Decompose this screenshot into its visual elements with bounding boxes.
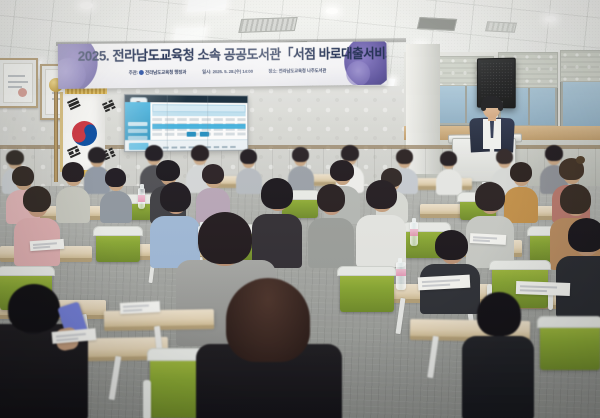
water-bottle[interactable]	[396, 262, 406, 290]
ceiling-light-panel	[187, 0, 227, 12]
handout[interactable]	[418, 275, 471, 291]
window-blind[interactable]	[560, 50, 600, 82]
screen-content-area	[150, 102, 247, 141]
chair[interactable]	[96, 228, 140, 262]
banner-datetime-value: 2025. 5. 28.(수) 14:00	[212, 69, 253, 74]
projection-screen	[124, 94, 248, 152]
ceiling-downlight	[80, 2, 93, 9]
audience-person	[436, 152, 462, 192]
water-bottle[interactable]	[138, 188, 145, 209]
audience-person	[356, 180, 406, 264]
audience-person-foreground	[196, 288, 342, 418]
screen-nav-item	[128, 122, 148, 126]
banner-datetime-label: 일시:	[202, 69, 211, 74]
presenter-hair-side	[481, 101, 486, 111]
education-office-emblem-icon	[139, 70, 144, 75]
banner-location-value: 전라남도교육청 나주도서관	[279, 68, 327, 73]
screen-nav-item	[128, 129, 148, 133]
handout[interactable]	[120, 301, 161, 314]
air-vent	[238, 17, 297, 33]
chair[interactable]	[340, 268, 394, 312]
audience-person	[556, 218, 600, 314]
banner-title: 2025. 전라남도교육청 소속 공공도서관「서점 바로대출서비스」설명회	[78, 44, 374, 66]
chair[interactable]	[540, 318, 600, 370]
certificate-seal	[18, 88, 27, 97]
air-vent	[417, 17, 457, 31]
banner-location-label: 장소:	[268, 69, 277, 74]
handout[interactable]	[516, 281, 570, 296]
audience-person	[100, 168, 132, 220]
hair-clip	[576, 156, 585, 164]
water-bottle[interactable]	[410, 222, 418, 246]
air-vent	[485, 21, 517, 33]
speaker-grille	[481, 62, 512, 97]
presenter	[470, 98, 514, 150]
ceiling-downlight	[545, 16, 556, 22]
banner-host-label: 주관:	[129, 70, 139, 75]
ceiling-downlight	[326, 8, 338, 14]
ceiling-light-panel	[174, 27, 207, 40]
screen-button	[187, 132, 196, 137]
taeguk-symbol	[68, 117, 101, 150]
screen-side-nav	[125, 102, 150, 141]
audience-person-foreground	[462, 296, 534, 418]
framed-certificate	[0, 58, 38, 108]
certificate-mat	[3, 63, 33, 103]
presenter-hair-side	[498, 101, 503, 111]
event-banner: 2025. 전라남도교육청 소속 공공도서관「서점 바로대출서비스」설명회 주관…	[58, 41, 387, 89]
audience-person	[308, 184, 354, 264]
audience-person	[56, 162, 90, 220]
audience-person-foreground	[0, 290, 88, 418]
banner-host-value: 전라남도교육청 행정과	[145, 70, 186, 75]
banner-subtitle: 주관: 전라남도교육청 행정과 일시: 2025. 5. 28.(수) 14:0…	[78, 67, 374, 77]
event-photograph: 2025. 전라남도교육청 소속 공공도서관「서점 바로대출서비스」설명회 주관…	[0, 0, 600, 418]
